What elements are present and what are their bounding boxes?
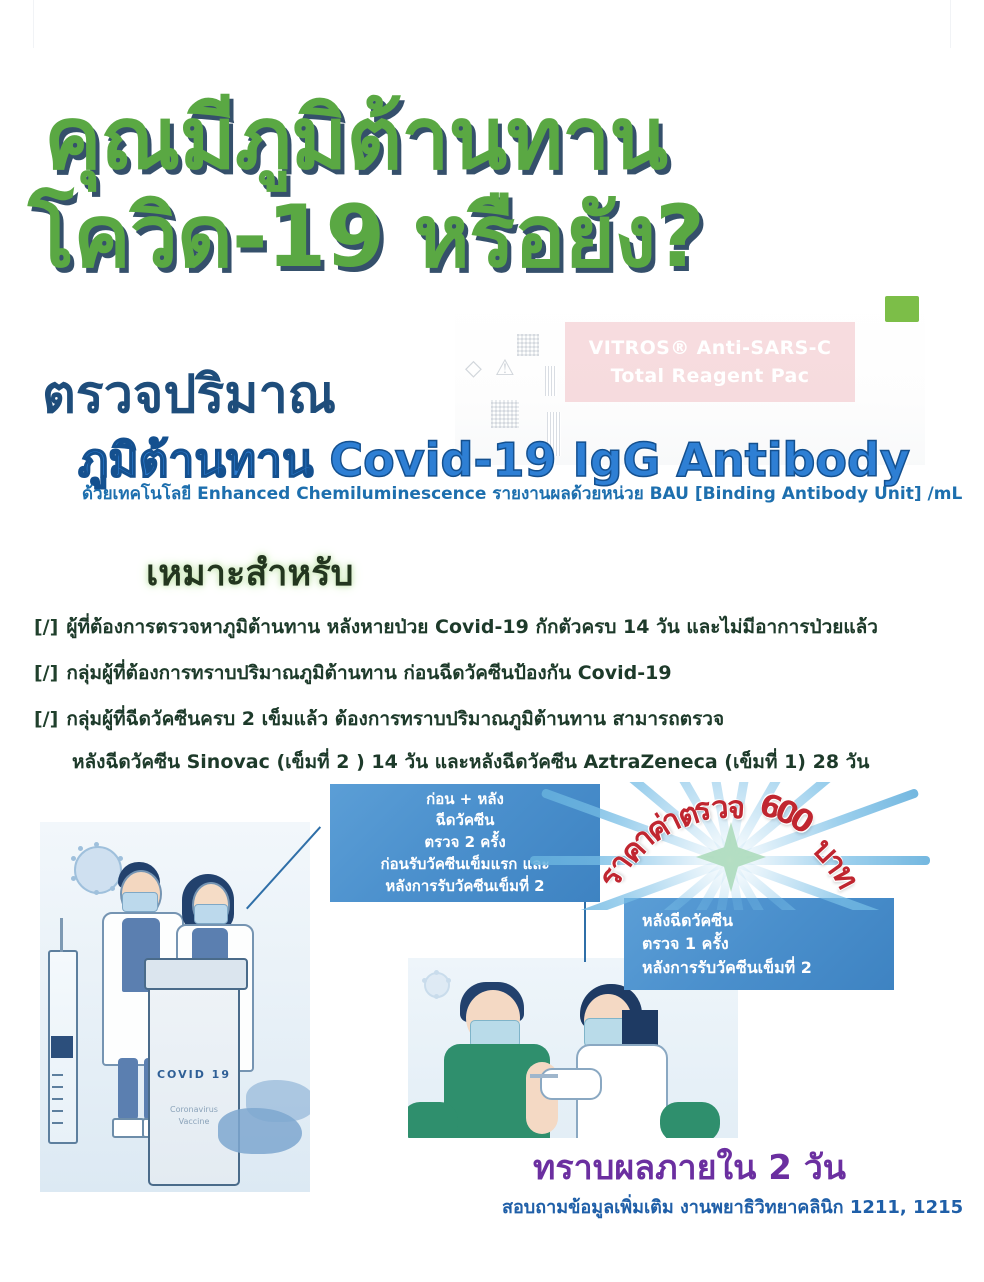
vitros-label-line2: Total Reagent Pac [611, 362, 810, 391]
callout-line: ก่อน + หลัง [426, 789, 504, 811]
syringe-fluid [51, 1036, 73, 1058]
poster-root: ◇ ⚠ VITROS® Anti-SARS-C Total Reagent Pa… [0, 0, 984, 1282]
vitros-label-line1: VITROS® Anti-SARS-C [589, 334, 832, 363]
list-item-label: กลุ่มผู้ที่ฉีดวัคซีนครบ 2 เข็มแล้ว ต้องก… [66, 708, 724, 732]
patient-knee [660, 1102, 720, 1138]
list-item-label: ผู้ที่ต้องการตรวจหาภูมิต้านทาน หลังหายป่… [66, 616, 878, 640]
face-mask-icon [194, 904, 228, 924]
price-char: จ [726, 782, 747, 833]
qr-code-icon [517, 334, 539, 356]
barcode-icon [545, 366, 557, 396]
suitable-for-heading: เหมาะสำหรับ [146, 544, 353, 601]
list-item-subline: หลังฉีดวัคซีน Sinovac (เข็มที่ 2 ) 14 วั… [72, 747, 964, 777]
syringe-icon [530, 1074, 558, 1078]
suitable-for-list: [/] ผู้ที่ต้องการตรวจหาภูมิต้านทาน หลังห… [34, 616, 964, 783]
glove-icon [246, 1080, 310, 1122]
needle-icon [60, 918, 63, 952]
illustration-doctors-with-vaccine: COVID 19 Coronavirus Vaccine [40, 822, 310, 1192]
list-item: [/] กลุ่มผู้ที่ฉีดวัคซีนครบ 2 เข็มแล้ว ต… [34, 708, 964, 732]
checkbox-icon: [/] [34, 616, 58, 640]
contact-info-text: สอบถามข้อมูลเพิ่มเติม งานพยาธิวิทยาคลินิ… [502, 1192, 963, 1221]
technology-note: ด้วยเทคโนโลยี Enhanced Chemiluminescence… [82, 480, 962, 507]
price-starburst: ราคาค่าตรวจ 600 บาท [520, 782, 940, 910]
price-text: ราคาค่าตรวจ 600 บาท [520, 784, 940, 854]
warning-triangle-icon: ⚠ [495, 358, 515, 380]
green-label-swatch [885, 296, 919, 322]
callout-line: ตรวจ 2 ครั้ง [424, 832, 505, 854]
nurse-arm [540, 1068, 602, 1100]
headline-line-1: คุณมีภูมิต้านทาน [24, 96, 964, 184]
subtitle-line-1: ตรวจปริมาณ [42, 352, 336, 435]
warning-diamond-icon: ◇ [465, 358, 482, 380]
leg [118, 1058, 138, 1120]
virus-particle-icon [74, 846, 122, 894]
headline-line-2: โควิด-19 หรือยัง? [24, 194, 964, 282]
checkbox-icon: [/] [34, 708, 58, 732]
list-item: [/] ผู้ที่ต้องการตรวจหาภูมิต้านทาน หลังห… [34, 616, 964, 640]
callout-line: หลังการรับวัคซีนเข็มที่ 2 [642, 956, 812, 979]
callout-line: ตรวจ 1 ครั้ง [642, 932, 729, 955]
checkbox-icon: [/] [34, 662, 58, 686]
face-mask-icon [122, 892, 158, 912]
callout-line: หลังฉีดวัคซีน [642, 909, 733, 932]
vial-cap [144, 958, 248, 990]
callout-after-vaccine: หลังฉีดวัคซีน ตรวจ 1 ครั้ง หลังการรับวัค… [624, 898, 894, 990]
page-frame [33, 0, 951, 48]
page-title: คุณมีภูมิต้านทาน โควิด-19 หรือยัง? [24, 96, 964, 281]
virus-particle-icon [424, 972, 450, 998]
vaccine-vial: COVID 19 Coronavirus Vaccine [148, 982, 240, 1186]
callout-line: ฉีดวัคซีน [436, 810, 495, 832]
vial-label: COVID 19 [150, 1068, 238, 1081]
patient-knee [408, 1102, 458, 1138]
vitros-label: VITROS® Anti-SARS-C Total Reagent Pac [565, 322, 855, 402]
result-time-text: ทราบผลภายใน 2 วัน [533, 1140, 846, 1194]
syringe-icon [48, 950, 78, 1144]
list-item-label: กลุ่มผู้ที่ต้องการทราบปริมาณภูมิต้านทาน … [66, 662, 671, 686]
list-item: [/] กลุ่มผู้ที่ต้องการทราบปริมาณภูมิต้าน… [34, 662, 964, 686]
